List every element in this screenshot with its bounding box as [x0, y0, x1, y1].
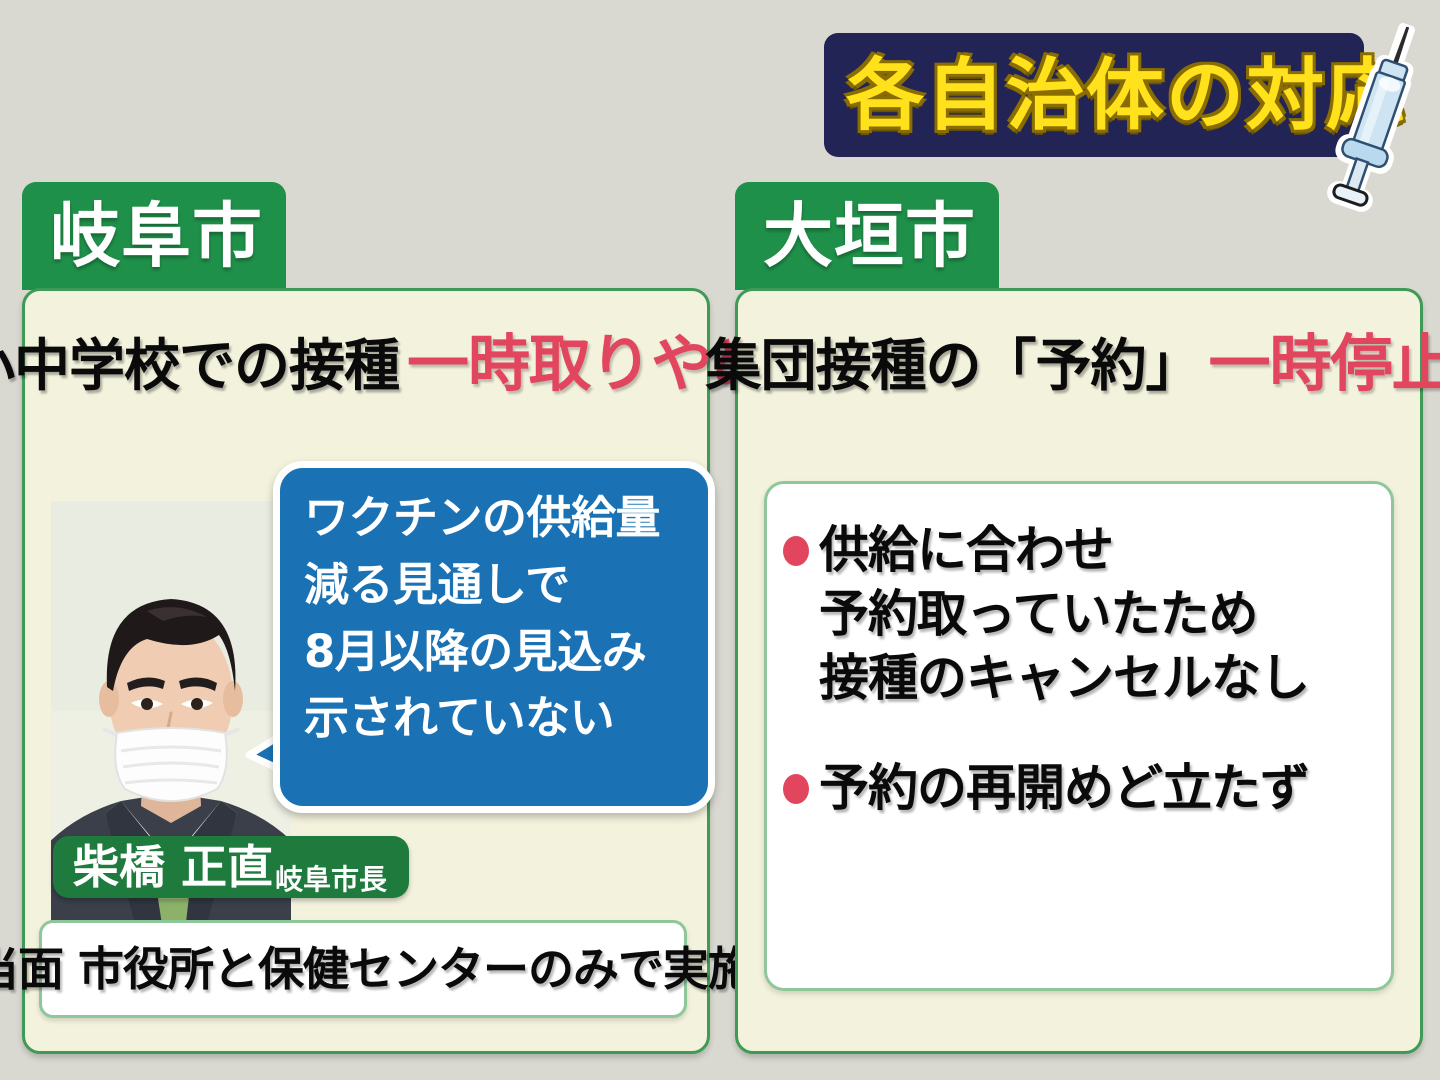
syringe-icon — [1322, 18, 1432, 218]
speech-bubble: ワクチンの供給量 減る見通しで 8月以降の見込み 示されていない — [273, 461, 715, 813]
speech-bubble-line: 示されていない — [304, 686, 698, 751]
name-badge-name: 柴橋 正直 — [73, 844, 273, 890]
speech-bubble-line: 減る見通しで — [304, 553, 698, 618]
bullet-line: 接種のキャンセルなし — [819, 646, 1309, 710]
name-badge-title: 岐阜市長 — [275, 866, 387, 898]
panel-ogaki: 集団接種の「予約」 一時停止 供給に合わせ 予約取っていたため 接種のキャンセル… — [735, 288, 1423, 1054]
panel-ogaki-headline-pink: 一時停止 — [1209, 333, 1440, 395]
speech-bubble-line: 8月以降の見込み — [304, 620, 698, 685]
note-box-gifu: 当面 市役所と保健センターのみで実施 — [39, 920, 687, 1018]
speech-bubble-line: ワクチンの供給量 — [304, 486, 698, 551]
panel-ogaki-headline: 集団接種の「予約」 一時停止 — [738, 333, 1420, 395]
bullet-line: 予約の再開めど立たず — [819, 756, 1309, 820]
panel-gifu-headline: 小中学校での接種 一時取りやめ — [25, 333, 707, 395]
list-item: 予約の再開めど立たず — [783, 756, 1373, 820]
panel-gifu: 小中学校での接種 一時取りやめ — [22, 288, 710, 1054]
panel-ogaki-headline-black: 集団接種の「予約」 — [706, 339, 1201, 395]
name-badge: 柴橋 正直 岐阜市長 — [53, 836, 409, 898]
bullet-dot-icon — [783, 536, 809, 566]
bullet-dot-icon — [783, 774, 809, 804]
tab-gifu[interactable]: 岐阜市 — [22, 182, 286, 290]
panel-gifu-headline-black: 小中学校での接種 — [0, 339, 399, 395]
graphic-stage: 各自治体の対応 岐阜市 小中学校での接種 一時取りやめ — [0, 0, 1440, 1080]
note-box-gifu-text: 当面 市役所と保健センターのみで実施 — [0, 946, 753, 992]
banner-title: 各自治体の対応 — [846, 46, 1346, 146]
bullet-line: 予約取っていたため — [819, 582, 1309, 646]
tab-gifu-label: 岐阜市 — [50, 201, 263, 271]
tab-ogaki-label: 大垣市 — [763, 201, 976, 271]
bullet-box-ogaki: 供給に合わせ 予約取っていたため 接種のキャンセルなし 予約の再開めど立たず — [764, 481, 1394, 991]
tab-ogaki[interactable]: 大垣市 — [735, 182, 999, 290]
bullet-line: 供給に合わせ — [819, 518, 1309, 582]
list-item: 供給に合わせ 予約取っていたため 接種のキャンセルなし — [783, 518, 1373, 710]
